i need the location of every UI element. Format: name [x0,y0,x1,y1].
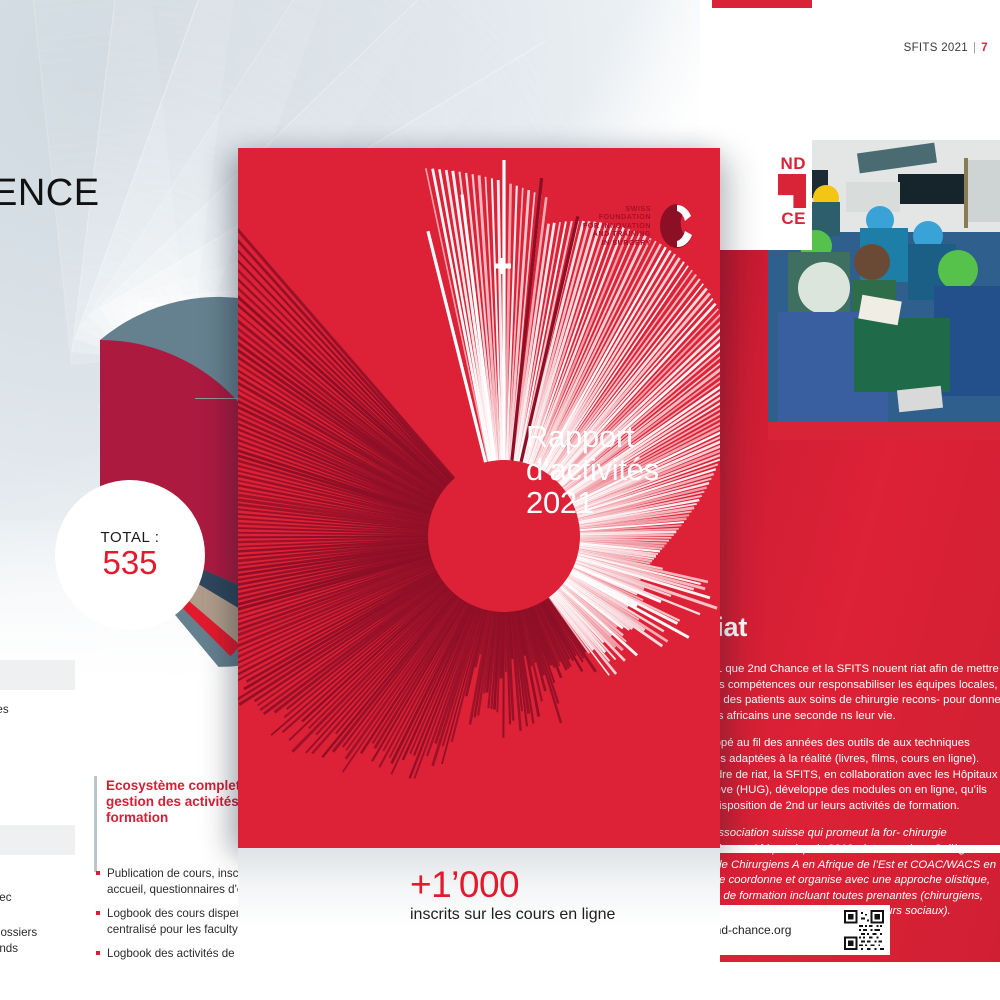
cover-title-line-3: 2021 [526,486,716,519]
logo-line-2: FOUNDATION [583,213,651,222]
folio-separator: | [973,42,976,54]
burst-ray [580,537,671,538]
folio-number: 7 [981,42,988,54]
col-a-heading: isuels [0,664,76,681]
logo-line-3: FOR INNOVATION [583,222,651,231]
cover-title-line-1: Rapport [526,420,716,453]
left-page-headline: ENCE [0,172,100,215]
cover-title: Rapport d’activités 2021 [526,420,716,519]
folio-label: SFITS 2021 [904,42,968,54]
page-bottom-margin [0,962,1000,1000]
sfits-logo: SWISS FOUNDATION FOR INNOVATION AND TRAI… [583,204,694,248]
col-b-line-3: e fonds [0,941,110,957]
cover-title-line-2: d’activités [526,453,716,486]
logo-line-1: SWISS [583,205,651,214]
article-body: ctobre 2021 que 2nd Chance et la SFITS n… [700,662,1000,932]
article-paragraph: ctobre 2021 que 2nd Chance et la SFITS n… [700,662,1000,724]
col-b-stray-line: s [0,776,54,792]
article-paragraph: e a développé au fil des années des outi… [700,736,1000,814]
burst-ray [580,535,674,536]
article-title: enariat [700,612,1000,643]
partner-card-line-2: CE [781,209,806,229]
burst-ray [505,612,506,672]
right-page-white-gap [700,845,1000,853]
brochure-cover: SWISS FOUNDATION FOR INNOVATION AND TRAI… [238,148,720,848]
sfits-logo-text: SWISS FOUNDATION FOR INNOVATION AND TRAI… [583,205,651,248]
page-folio: SFITS 2021|7 [904,42,988,54]
page-spread: ENCE TOTAL : 535 isuels ments hy [0,0,1000,1000]
logo-line-5: IN SURGERY [583,239,651,248]
right-page-top-red-bar [712,0,812,8]
donut-center-label: TOTAL : 535 [55,480,205,630]
s-monogram-icon [660,204,694,248]
col-b-heading: ets de [0,829,88,846]
cover-footer-strip: +1’000 inscrits sur les cours en ligne [238,848,720,962]
col-c-rule [94,776,97,872]
qr-code-icon [844,910,884,950]
stat-value: +1’000 [410,864,519,906]
col-b-line-2: les dossiers [0,925,106,941]
col-a-line-2: de vidéos [0,722,80,738]
stat-caption: inscrits sur les cours en ligne [410,906,615,924]
donut-total-value: 535 [102,544,157,582]
logo-line-4: AND TRAINING [583,230,651,239]
col-b-line-1: s avec [0,890,88,906]
partner-card-line-1: ND [780,154,806,174]
partner-card-mark-icon [778,174,806,208]
col-a-line-1: ments hybrides [0,702,80,718]
